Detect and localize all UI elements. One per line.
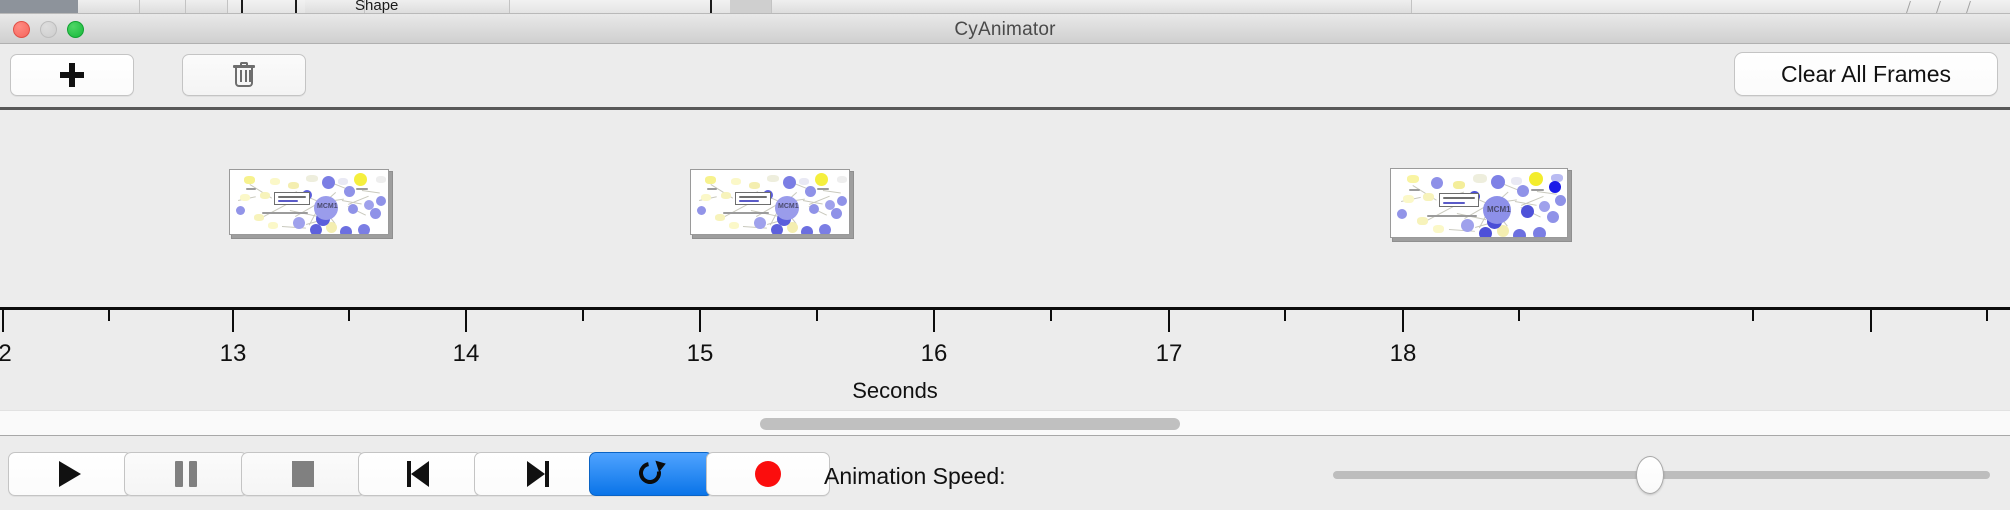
stop-button[interactable] <box>241 452 365 496</box>
skip-to-end-icon <box>523 461 549 487</box>
background-block <box>186 0 228 14</box>
background-tick <box>295 0 297 13</box>
skip-to-start-icon <box>407 461 433 487</box>
network-thumbnail: MCM1 <box>691 170 849 234</box>
ruler-minor-tick <box>108 310 110 321</box>
background-column-header: Shape <box>355 0 398 14</box>
scrollbar-thumb[interactable] <box>760 418 1180 430</box>
window-title: CyAnimator <box>0 19 2010 41</box>
background-tick <box>710 0 712 13</box>
ruler-tick-label: 2 <box>0 340 12 368</box>
timeline-frame-thumbnail[interactable]: MCM1 <box>690 169 850 235</box>
previous-frame-button[interactable] <box>358 452 482 496</box>
timeline-panel[interactable]: MCM1 <box>0 110 2010 410</box>
ruler-major-tick <box>232 310 234 332</box>
ruler-major-tick <box>1402 310 1404 332</box>
background-window-strip: Shape <box>0 0 2010 14</box>
background-block <box>140 0 186 14</box>
timeline-frame-thumbnail[interactable]: MCM1 <box>229 169 389 235</box>
ruler-minor-tick <box>816 310 818 321</box>
ruler-minor-tick <box>1986 310 1988 321</box>
timeline-ruler-line <box>0 307 2010 310</box>
toolbar: Clear All Frames <box>0 44 2010 108</box>
playback-control-bar: Animation Speed: <box>0 437 2010 510</box>
node-tooltip-callout <box>735 192 771 205</box>
ruler-major-tick <box>465 310 467 332</box>
animation-speed-label: Animation Speed: <box>824 463 1006 490</box>
timeline-axis-title: Seconds <box>0 378 2010 404</box>
record-button[interactable] <box>706 452 830 496</box>
timeline-horizontal-scrollbar[interactable] <box>0 410 2010 436</box>
loop-button[interactable] <box>589 452 713 496</box>
background-block <box>78 0 140 14</box>
ruler-tick-label: 13 <box>220 340 247 368</box>
ruler-minor-tick <box>582 310 584 321</box>
background-divider <box>1936 1 1941 13</box>
loop-icon <box>637 460 665 488</box>
background-block <box>730 0 772 14</box>
trash-icon <box>233 62 255 88</box>
ruler-minor-tick <box>348 310 350 321</box>
stop-icon <box>292 461 314 487</box>
node-tooltip-callout <box>274 192 310 205</box>
ruler-minor-tick <box>1752 310 1754 321</box>
clear-all-frames-button[interactable]: Clear All Frames <box>1734 52 1998 96</box>
delete-frame-button[interactable] <box>182 54 306 96</box>
ruler-major-tick <box>1168 310 1170 332</box>
plus-icon <box>60 63 84 87</box>
ruler-minor-tick <box>1518 310 1520 321</box>
ruler-tick-label: 15 <box>687 340 714 368</box>
next-frame-button[interactable] <box>474 452 598 496</box>
hub-node-label: MCM1 <box>317 203 338 210</box>
add-frame-button[interactable] <box>10 54 134 96</box>
slider-thumb[interactable] <box>1636 456 1664 494</box>
background-tick <box>241 0 243 13</box>
background-block <box>772 0 1412 14</box>
title-bar[interactable]: CyAnimator <box>0 14 2010 44</box>
pause-button[interactable] <box>124 452 248 496</box>
clear-all-frames-label: Clear All Frames <box>1781 61 1951 88</box>
background-divider <box>1966 1 1971 13</box>
play-button[interactable] <box>8 452 132 496</box>
ruler-major-tick <box>933 310 935 332</box>
cyanimator-window: Shape CyAnimator Clear All Frames <box>0 0 2010 510</box>
ruler-tick-label: 18 <box>1390 340 1417 368</box>
play-icon <box>59 461 81 487</box>
ruler-minor-tick <box>1284 310 1286 321</box>
ruler-tick-label: 16 <box>921 340 948 368</box>
ruler-tick-label: 17 <box>1156 340 1183 368</box>
timeline-frame-thumbnail[interactable]: MCM1 <box>1390 168 1568 238</box>
ruler-major-tick <box>699 310 701 332</box>
node-tooltip-callout <box>1439 193 1479 207</box>
hub-node-label: MCM1 <box>1487 205 1511 214</box>
ruler-tick-label: 14 <box>453 340 480 368</box>
pause-icon <box>175 461 197 487</box>
network-thumbnail: MCM1 <box>230 170 388 234</box>
hub-node-label: MCM1 <box>778 203 799 210</box>
record-icon <box>755 461 781 487</box>
ruler-major-tick <box>1870 310 1872 332</box>
background-divider <box>1906 1 1911 13</box>
ruler-major-tick <box>2 310 4 332</box>
animation-speed-slider[interactable] <box>1333 465 1990 485</box>
ruler-minor-tick <box>1050 310 1052 321</box>
network-thumbnail: MCM1 <box>1391 169 1567 237</box>
background-dark-block <box>0 0 78 13</box>
